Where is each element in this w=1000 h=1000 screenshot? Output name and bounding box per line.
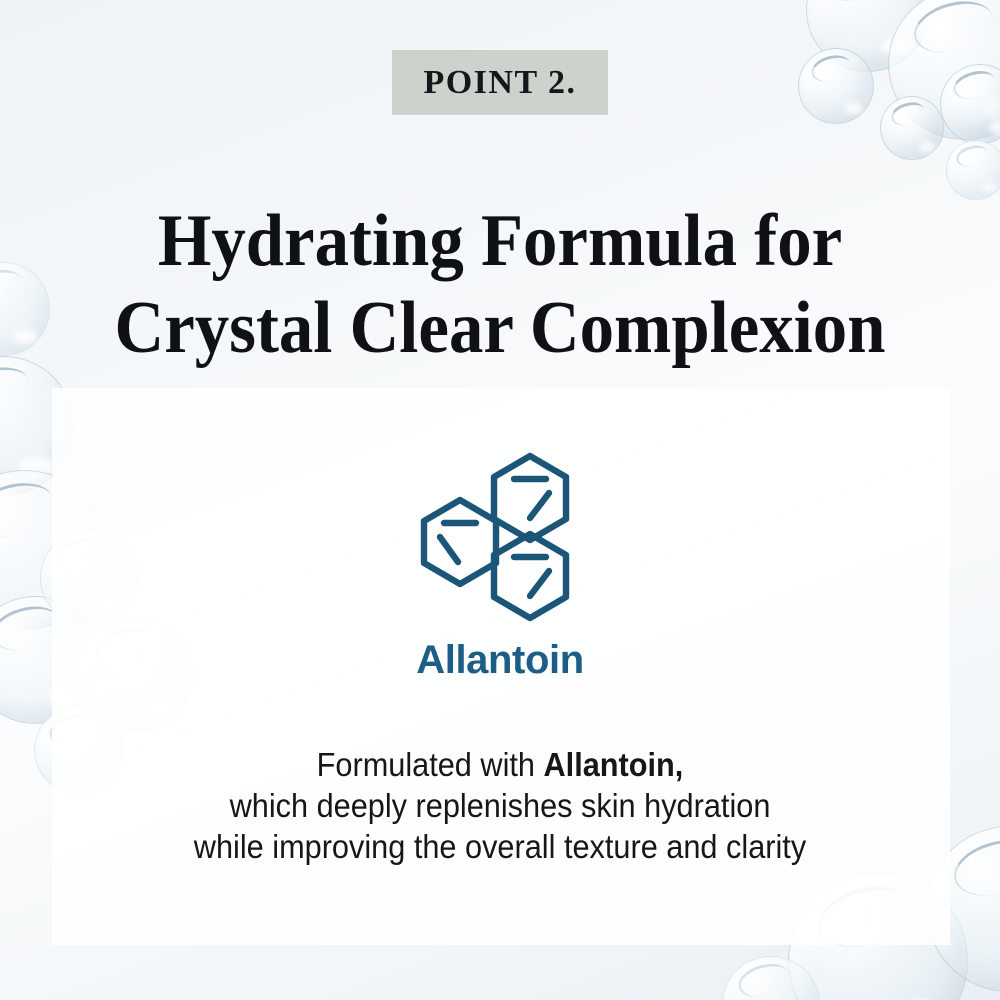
description-line-2: which deeply replenishes skin hydration [35,785,965,826]
page-title: Hydrating Formula for Crystal Clear Comp… [35,198,965,372]
headline-line-1: Hydrating Formula for [35,198,965,285]
bubble [946,140,1000,200]
hexagon-bottom-right [494,534,566,618]
bubble [806,0,930,72]
hexagon-bottom-right-bond-slant [530,571,549,596]
bubble [880,96,944,160]
bubble [722,956,820,1000]
bubble [940,64,1000,144]
molecule-hexagons-icon [418,448,593,626]
hexagon-top-right-bond-slant [530,493,549,518]
promo-slide: POINT 2. Hydrating Formula for Crystal C… [0,0,1000,1000]
description-line-1-prefix: Formulated with [317,746,544,783]
hexagon-left-bond-slant [440,537,458,562]
description-line-1-emphasis: Allantoin, [544,746,684,783]
ingredient-description: Formulated with Allantoin, which deeply … [35,744,965,867]
bubble [888,0,1000,140]
headline-line-2: Crystal Clear Complexion [35,285,965,372]
bubble [798,48,874,124]
ingredient-label: Allantoin [0,638,1000,683]
description-line-1: Formulated with Allantoin, [35,744,965,785]
point-badge: POINT 2. [392,50,608,115]
point-badge-label: POINT 2. [423,64,576,102]
description-line-3: while improving the overall texture and … [35,826,965,867]
hexagon-top-right [494,456,566,540]
hexagon-left [424,500,496,584]
